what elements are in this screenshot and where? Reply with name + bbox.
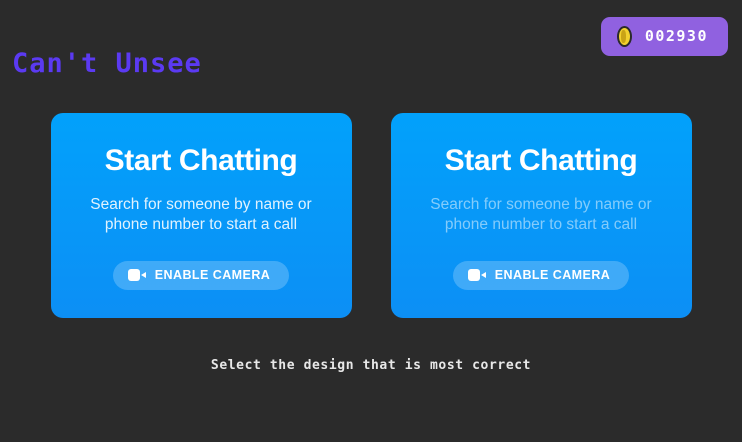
coin-icon — [617, 26, 632, 47]
app-logo: Can't Unsee Can't Unsee Can't Unsee — [12, 0, 202, 131]
design-option-right[interactable]: Start Chatting Search for someone by nam… — [391, 113, 692, 318]
logo-text: Can't Unsee — [12, 50, 202, 77]
enable-camera-button[interactable]: ENABLE CAMERA — [453, 261, 630, 290]
instruction-text: Select the design that is most correct — [0, 358, 742, 373]
score-badge: 002930 — [601, 17, 728, 56]
coin-inner — [621, 30, 626, 43]
enable-camera-label: ENABLE CAMERA — [155, 269, 271, 282]
design-option-left[interactable]: Start Chatting Search for someone by nam… — [51, 113, 352, 318]
camera-body — [468, 269, 480, 281]
score-value: 002930 — [645, 29, 708, 44]
video-camera-icon — [468, 269, 486, 281]
card-title: Start Chatting — [105, 146, 298, 176]
camera-body — [128, 269, 140, 281]
card-title: Start Chatting — [445, 146, 638, 176]
camera-lens — [481, 272, 486, 278]
app-header: Can't Unsee Can't Unsee Can't Unsee 0029… — [0, 0, 742, 72]
video-camera-icon — [128, 269, 146, 281]
enable-camera-label: ENABLE CAMERA — [495, 269, 611, 282]
card-subtitle: Search for someone by name or phone numb… — [76, 195, 326, 235]
enable-camera-button[interactable]: ENABLE CAMERA — [113, 261, 290, 290]
card-subtitle: Search for someone by name or phone numb… — [416, 195, 666, 235]
camera-lens — [141, 272, 146, 278]
